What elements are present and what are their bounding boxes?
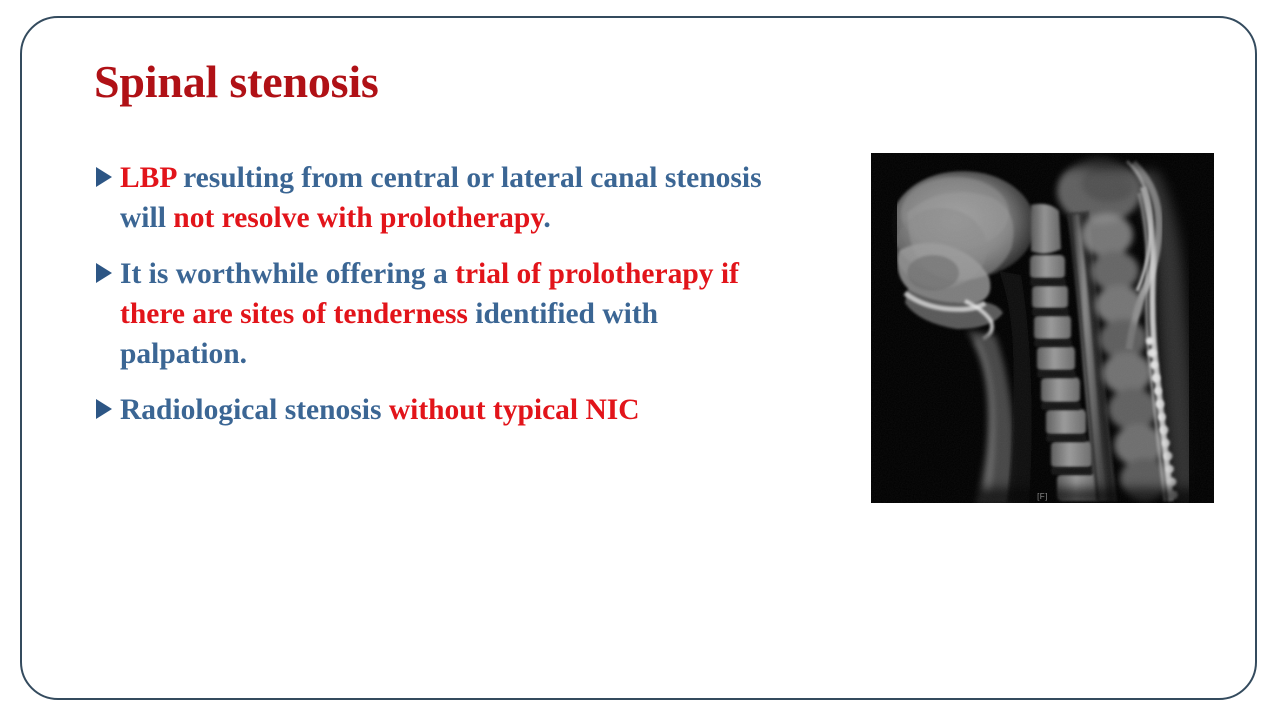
slide: Spinal stenosis LBP resulting from centr… bbox=[0, 0, 1280, 720]
list-item: LBP resulting from central or lateral ca… bbox=[96, 158, 786, 238]
bullet-1-text: LBP resulting from central or lateral ca… bbox=[96, 158, 786, 238]
text-run-blue: It is worthwhile offering a bbox=[120, 258, 455, 290]
page-title: Spinal stenosis bbox=[94, 55, 379, 108]
list-item: Radiological stenosis without typical NI… bbox=[96, 390, 786, 430]
bullet-list: LBP resulting from central or lateral ca… bbox=[96, 158, 786, 446]
mri-corner-label: [F] bbox=[1037, 492, 1048, 501]
text-run-blue: Radiological stenosis bbox=[120, 394, 389, 426]
cervical-spine-mri-image: [F] bbox=[871, 153, 1214, 503]
text-run-red: LBP bbox=[120, 162, 183, 194]
triangle-right-icon bbox=[96, 167, 112, 187]
list-item: It is worthwhile offering a trial of pro… bbox=[96, 254, 786, 374]
text-run-red: not resolve with prolotherapy bbox=[173, 202, 543, 234]
text-run-blue: . bbox=[543, 202, 550, 234]
bullet-2-text: It is worthwhile offering a trial of pro… bbox=[96, 254, 786, 374]
triangle-right-icon bbox=[96, 399, 112, 419]
text-run-red: without typical NIC bbox=[389, 394, 640, 426]
bullet-3-text: Radiological stenosis without typical NI… bbox=[96, 390, 786, 430]
triangle-right-icon bbox=[96, 263, 112, 283]
